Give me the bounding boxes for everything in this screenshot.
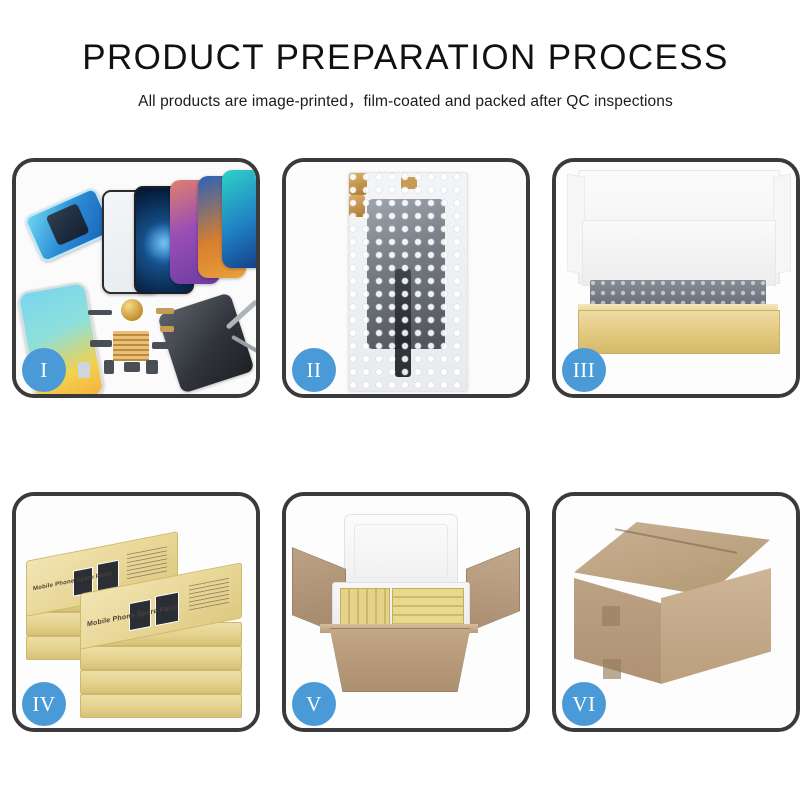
step-badge-4: IV xyxy=(22,682,66,726)
step-badge-2: II xyxy=(292,348,336,392)
vibration-motor-icon xyxy=(120,298,144,322)
step-badge-3: III xyxy=(562,348,606,392)
carton-flap-right xyxy=(466,547,520,633)
tape-strip xyxy=(401,177,417,189)
step-badge-5: V xyxy=(292,682,336,726)
carton-tape-upper xyxy=(602,606,620,626)
part-bracket xyxy=(78,362,90,378)
page-subtitle: All products are image-printed，film-coat… xyxy=(0,89,811,111)
bubble-wrap-bag xyxy=(348,172,468,392)
stacked-box-front-4 xyxy=(80,694,242,718)
header: PRODUCT PREPARATION PROCESS All products… xyxy=(0,0,811,111)
gold-connector-right xyxy=(349,195,365,217)
foam-box-lid xyxy=(344,514,458,588)
part-chip xyxy=(124,362,140,372)
process-step-4: Mobile Phone Spare Parts Mobile Phone Sp… xyxy=(12,492,260,732)
process-step-5: V xyxy=(282,492,530,732)
connector-grid-icon xyxy=(112,330,150,362)
box-front-kraft xyxy=(578,310,780,354)
part-button-flex xyxy=(152,342,174,349)
part-taptic xyxy=(146,360,158,374)
step-badge-1: I xyxy=(22,348,66,392)
box-spec-lines-b xyxy=(189,578,229,612)
carton-front-panel xyxy=(320,628,480,692)
carton-tape-lower xyxy=(603,659,621,679)
stacked-box-front-3 xyxy=(80,670,242,694)
part-speaker xyxy=(88,310,112,315)
stacked-box-front-2 xyxy=(80,646,242,670)
page-title: PRODUCT PREPARATION PROCESS xyxy=(0,40,811,77)
part-camera-flex xyxy=(90,340,112,347)
box-spec-lines-a xyxy=(127,546,167,580)
product-preparation-infographic: PRODUCT PREPARATION PROCESS All products… xyxy=(0,0,811,811)
process-step-6: VI xyxy=(552,492,800,732)
process-step-3: III xyxy=(552,158,800,398)
box-stack: Mobile Phone Spare Parts Mobile Phone Sp… xyxy=(24,518,248,714)
process-step-2: II xyxy=(282,158,530,398)
phone-screen-teal xyxy=(222,170,256,268)
process-step-1: I xyxy=(12,158,260,398)
gold-connector-left xyxy=(349,173,367,195)
process-step-grid: I II xyxy=(12,158,800,758)
flex-cable xyxy=(395,269,411,377)
part-flex-gold xyxy=(156,308,174,314)
step-badge-6: VI xyxy=(562,682,606,726)
foam-liner xyxy=(582,220,776,286)
part-sim-tray xyxy=(104,360,114,374)
part-flex-gold-2 xyxy=(160,326,174,332)
